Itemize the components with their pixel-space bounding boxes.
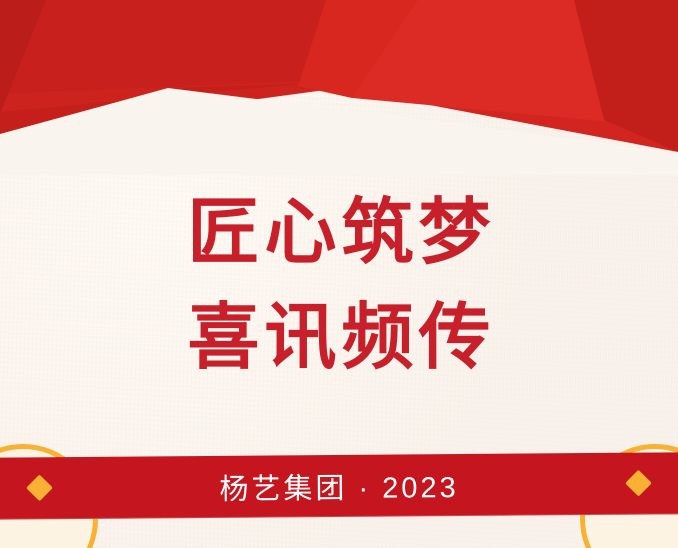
bottom-ribbon: 杨艺集团 · 2023 <box>0 452 678 520</box>
headline-line-2: 喜讯频传 <box>0 291 678 385</box>
headline-block: 匠心筑梦 喜讯频传 <box>0 186 678 385</box>
poster-canvas: 匠心筑梦 喜讯频传 杨艺集团 · 2023 <box>0 0 678 548</box>
headline-line-1: 匠心筑梦 <box>0 186 678 280</box>
bottom-ribbon-content: 杨艺集团 · 2023 <box>0 452 678 520</box>
faceted-red-header <box>0 0 678 175</box>
ribbon-label: 杨艺集团 · 2023 <box>219 464 459 508</box>
